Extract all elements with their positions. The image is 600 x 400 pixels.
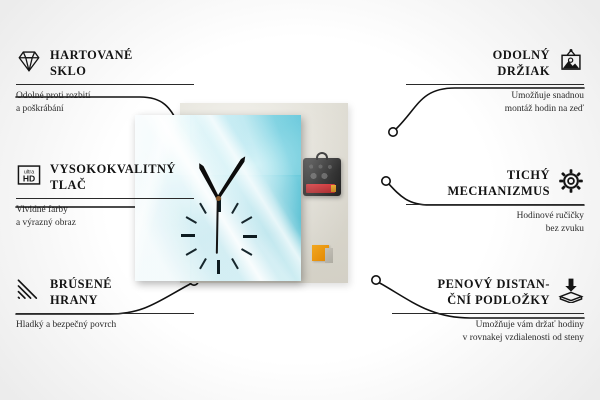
feature-title-line1: HARTOVANÉ <box>50 48 133 62</box>
feature-title-line1: BRÚSENÉ <box>50 277 112 291</box>
diamond-icon <box>16 48 42 74</box>
feature-title-line2: SKLO <box>50 64 86 78</box>
divider <box>16 84 194 85</box>
divider <box>16 198 194 199</box>
feature-desc-line1: Hodinové ručičky <box>517 211 584 221</box>
foam-pad-icon <box>558 277 584 303</box>
feature-desc-line1: Odolné proti rozbití <box>16 91 90 101</box>
feature-desc-line2: montáž hodin na zeď <box>505 104 584 114</box>
clock-mechanism <box>303 158 341 196</box>
feature-title-line2: DRŽIAK <box>497 64 550 78</box>
foam-spacer-pad <box>312 245 329 261</box>
feature-desc-line2: a výrazný obraz <box>16 218 76 228</box>
divider <box>406 84 584 85</box>
feature-title-line2: ČNÍ PODLOŽKY <box>447 293 550 307</box>
feature-tempered-glass: HARTOVANÉ SKLO Odolné proti rozbití a po… <box>16 48 194 117</box>
feature-desc-line2: v rovnakej vzdialenosti od steny <box>463 333 584 343</box>
feature-desc-line2: bez zvuku <box>546 224 584 234</box>
feature-title-line1: TICHÝ <box>507 168 550 182</box>
feature-title-line2: HRANY <box>50 293 98 307</box>
connector-node-right-1 <box>389 128 397 136</box>
feature-durable-hanger: ODOLNÝ DRŽIAK Umožňuje snadnou montáž ho… <box>406 48 584 117</box>
battery <box>306 184 335 193</box>
connector-node-right-2 <box>382 177 390 185</box>
feature-silent-mechanism: TICHÝ MECHANIZMUS Hodinové ručičky bez z… <box>406 168 584 237</box>
svg-text:HD: HD <box>23 174 35 184</box>
brushed-edges-icon <box>16 277 42 303</box>
feature-desc-line1: Hladký a bezpečný povrch <box>16 320 116 330</box>
feature-title-line1: ODOLNÝ <box>493 48 550 62</box>
feature-polished-edges: BRÚSENÉ HRANY Hladký a bezpečný povrch <box>16 277 194 332</box>
wall-hanger-icon <box>558 48 584 74</box>
feature-title-line1: VYSOKOKVALITNÝ <box>50 162 176 176</box>
divider <box>392 313 584 314</box>
feature-title-line2: TLAČ <box>50 178 86 192</box>
feature-title-line1: PENOVÝ DISTAN- <box>438 277 550 291</box>
hand-cap <box>216 196 221 201</box>
feature-desc-line1: Umožňuje vám držať hodiny <box>476 320 584 330</box>
infographic-stage: HARTOVANÉ SKLO Odolné proti rozbití a po… <box>0 0 600 400</box>
mechanism-hook <box>316 152 328 160</box>
gear-icon <box>558 168 584 194</box>
feature-desc-line1: Vividné farby <box>16 205 68 215</box>
feature-foam-spacers: PENOVÝ DISTAN- ČNÍ PODLOŽKY Umožňuje vám… <box>392 277 584 346</box>
ultra-hd-icon: ultra HD <box>16 162 42 188</box>
feature-hq-print: ultra HD VYSOKOKVALITNÝ TLAČ Vividné far… <box>16 162 194 231</box>
feature-desc-line1: Umožňuje snadnou <box>511 91 584 101</box>
divider <box>16 313 194 314</box>
feature-title-line2: MECHANIZMUS <box>447 184 550 198</box>
feature-desc-line2: a poškrábání <box>16 104 64 114</box>
divider <box>406 204 584 205</box>
connector-node-right-3 <box>372 276 380 284</box>
